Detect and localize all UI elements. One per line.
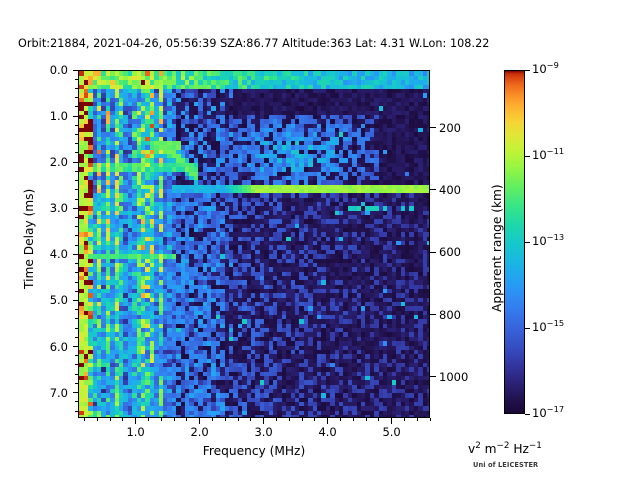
- axis-tick-mark: [75, 106, 78, 107]
- x-tick-label: 3.0: [254, 425, 272, 439]
- y-tick-label: 4.0: [50, 247, 68, 261]
- axis-tick-mark: [186, 418, 187, 421]
- axis-tick-mark: [75, 364, 78, 365]
- axis-tick-mark: [75, 88, 78, 89]
- colorbar-tick-label: 10−13: [532, 234, 564, 248]
- x-tick-label: 2.0: [190, 425, 208, 439]
- axis-tick-mark: [84, 418, 85, 421]
- axis-tick-mark: [73, 208, 79, 209]
- colorbar-tick-mantissa: 10: [532, 320, 547, 334]
- y-tick-label: 1.0: [50, 109, 68, 123]
- colorbar[interactable]: [504, 70, 525, 414]
- axis-tick-mark: [75, 328, 78, 329]
- x-tick-label: 1.0: [126, 425, 144, 439]
- axis-tick-mark: [75, 337, 78, 338]
- axis-tick-mark: [263, 418, 264, 424]
- axis-tick-mark: [430, 314, 436, 315]
- colorbar-tick-mantissa: 10: [532, 406, 547, 420]
- axis-tick-mark: [75, 199, 78, 200]
- institution-credit: Uni of LEICESTER: [473, 461, 538, 469]
- axis-tick-mark: [353, 418, 354, 421]
- colorbar-tick-exponent: −11: [547, 146, 564, 156]
- axis-tick-mark: [75, 152, 78, 153]
- axis-tick-mark: [417, 418, 418, 421]
- axis-tick-mark: [314, 418, 315, 421]
- axis-tick-mark: [75, 245, 78, 246]
- axis-tick-mark: [289, 418, 290, 421]
- axis-tick-mark: [75, 411, 78, 412]
- axis-tick-mark: [73, 392, 79, 393]
- axis-tick-mark: [122, 418, 123, 421]
- axis-tick-mark: [378, 418, 379, 421]
- colorbar-tick-mantissa: 10: [532, 234, 547, 248]
- axis-tick-mark: [525, 242, 530, 243]
- axis-tick-mark: [238, 418, 239, 421]
- axis-tick-mark: [75, 282, 78, 283]
- axis-tick-mark: [75, 263, 78, 264]
- axis-tick-mark: [302, 418, 303, 421]
- axis-tick-mark: [75, 217, 78, 218]
- axis-tick-mark: [75, 180, 78, 181]
- axis-tick-mark: [430, 127, 436, 128]
- colorbar-tick-exponent: −17: [547, 404, 564, 414]
- colorbar-tick-label: 10−17: [532, 406, 564, 420]
- y-tick-label: 3.0: [50, 201, 68, 215]
- axis-tick-mark: [75, 189, 78, 190]
- axis-tick-mark: [73, 116, 79, 117]
- axis-tick-mark: [73, 254, 79, 255]
- colorbar-unit-label: v2 m−2 Hz−1: [468, 442, 542, 456]
- axis-tick-mark: [525, 414, 530, 415]
- y-tick-label: 7.0: [50, 386, 68, 400]
- colorbar-tick-exponent: −9: [547, 60, 559, 70]
- axis-tick-mark: [404, 418, 405, 421]
- axis-tick-mark: [199, 418, 200, 424]
- axis-tick-mark: [75, 226, 78, 227]
- axis-tick-mark: [75, 309, 78, 310]
- axis-tick-mark: [75, 291, 78, 292]
- axis-tick-mark: [75, 171, 78, 172]
- axis-tick-mark: [327, 418, 328, 424]
- y-tick-label: 0.0: [50, 63, 68, 77]
- colorbar-tick-exponent: −13: [547, 232, 564, 242]
- axis-tick-mark: [430, 189, 436, 190]
- y-axis-label: Time Delay (ms): [22, 189, 36, 289]
- unit-velocity-exponent: 2: [475, 441, 481, 451]
- axis-tick-mark: [75, 125, 78, 126]
- ionogram-heatmap-canvas: [79, 71, 430, 418]
- axis-tick-mark: [148, 418, 149, 421]
- x-axis-label: Frequency (MHz): [203, 444, 305, 458]
- axis-tick-mark: [430, 252, 436, 253]
- y-tick-label: 6.0: [50, 340, 68, 354]
- secondary-y-tick-label: 400: [439, 183, 461, 197]
- axis-tick-mark: [110, 418, 111, 421]
- axis-tick-mark: [75, 235, 78, 236]
- ionogram-figure: Orbit:21884, 2021-04-26, 05:56:39 SZA:86…: [0, 0, 640, 480]
- axis-tick-mark: [276, 418, 277, 421]
- axis-tick-mark: [525, 156, 530, 157]
- colorbar-tick-label: 10−15: [532, 320, 564, 334]
- axis-tick-mark: [225, 418, 226, 421]
- axis-tick-mark: [75, 374, 78, 375]
- colorbar-tick-exponent: −15: [547, 318, 564, 328]
- axis-tick-mark: [135, 418, 136, 424]
- axis-tick-mark: [75, 272, 78, 273]
- axis-tick-mark: [75, 79, 78, 80]
- secondary-y-tick-label: 1000: [439, 370, 468, 384]
- colorbar-tick-mantissa: 10: [532, 62, 547, 76]
- secondary-y-axis-label: Apparent range (km): [490, 184, 504, 312]
- axis-tick-mark: [75, 383, 78, 384]
- axis-tick-mark: [75, 143, 78, 144]
- colorbar-tick-label: 10−11: [532, 148, 564, 162]
- colorbar-tick-mantissa: 10: [532, 148, 547, 162]
- x-tick-label: 5.0: [382, 425, 400, 439]
- y-tick-label: 5.0: [50, 293, 68, 307]
- axis-tick-mark: [174, 418, 175, 421]
- axis-tick-mark: [73, 70, 79, 71]
- ionogram-plot-area[interactable]: [78, 70, 430, 418]
- axis-tick-mark: [391, 418, 392, 424]
- axis-tick-mark: [97, 418, 98, 421]
- colorbar-gradient: [505, 71, 524, 413]
- axis-tick-mark: [73, 346, 79, 347]
- axis-tick-mark: [75, 318, 78, 319]
- unit-hertz-base: Hz: [513, 442, 529, 456]
- axis-tick-mark: [73, 300, 79, 301]
- axis-tick-mark: [75, 355, 78, 356]
- secondary-y-tick-label: 600: [439, 245, 461, 259]
- unit-metre-exponent: −2: [497, 441, 510, 451]
- unit-hertz-exponent: −1: [529, 441, 542, 451]
- axis-tick-mark: [73, 162, 79, 163]
- axis-tick-mark: [525, 70, 530, 71]
- axis-tick-mark: [430, 418, 431, 421]
- page-title: Orbit:21884, 2021-04-26, 05:56:39 SZA:86…: [18, 37, 489, 50]
- secondary-y-tick-label: 200: [439, 121, 461, 135]
- axis-tick-mark: [161, 418, 162, 421]
- axis-tick-mark: [340, 418, 341, 421]
- colorbar-tick-label: 10−9: [532, 62, 559, 76]
- x-tick-label: 4.0: [318, 425, 336, 439]
- axis-tick-mark: [366, 418, 367, 421]
- axis-tick-mark: [75, 401, 78, 402]
- axis-tick-mark: [430, 376, 436, 377]
- axis-tick-mark: [525, 328, 530, 329]
- secondary-y-tick-label: 800: [439, 308, 461, 322]
- axis-tick-mark: [212, 418, 213, 421]
- axis-tick-mark: [75, 97, 78, 98]
- axis-tick-mark: [75, 134, 78, 135]
- unit-metre-base: m: [485, 442, 497, 456]
- axis-tick-mark: [250, 418, 251, 421]
- y-tick-label: 2.0: [50, 155, 68, 169]
